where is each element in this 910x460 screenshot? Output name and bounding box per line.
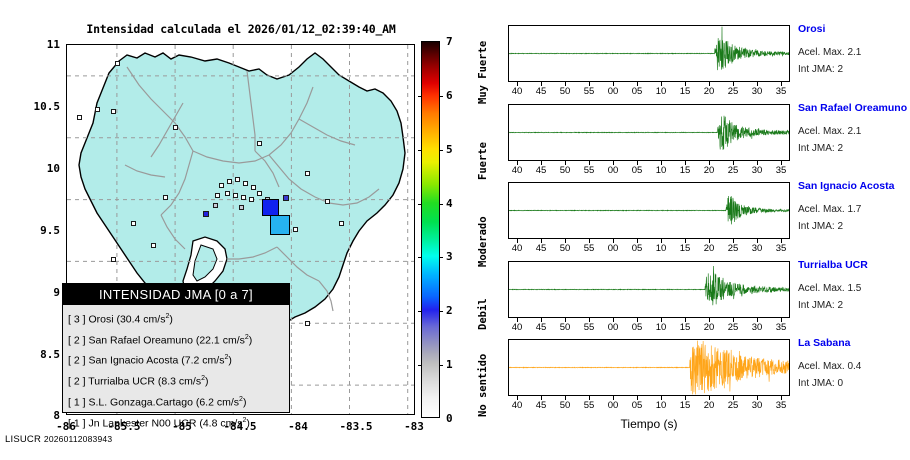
colorbar-tick-7: 7 xyxy=(446,35,453,48)
legend-item: [ 1 ] S.L. Gonzaga.Cartago (6.2 cm/s2) xyxy=(68,391,289,412)
legend-accel: (22.1 cm/s xyxy=(196,334,245,346)
station-marker[interactable] xyxy=(305,171,310,176)
panel-title-san-rafael-oreamuno: San Rafael Oreamuno xyxy=(798,102,907,114)
time-tick-label: 35 xyxy=(767,165,795,176)
station-marker[interactable] xyxy=(173,125,178,130)
station-marker[interactable] xyxy=(131,221,136,226)
panel-int-san-rafael-oreamuno: Int JMA: 2 xyxy=(798,143,843,154)
seismogram-panel-orosi[interactable] xyxy=(508,25,790,82)
colorbar-label-no-sentido: No sentido xyxy=(477,354,489,417)
station-marker[interactable] xyxy=(111,109,116,114)
panel-title-orosi: Orosi xyxy=(798,23,825,35)
station-marker[interactable] xyxy=(95,107,100,112)
station-marker[interactable] xyxy=(111,257,116,262)
station-marker[interactable] xyxy=(339,221,344,226)
map-xlabel-835: -83.5 xyxy=(326,420,386,433)
legend-item: [ 1 ] Jn Lankester N00 UCR (4.8 cm/s2) xyxy=(68,412,289,433)
seismogram-panel-san-rafael-oreamuno[interactable] xyxy=(508,104,790,161)
colorbar-tick-1: 1 xyxy=(446,358,453,371)
station-marker[interactable] xyxy=(213,203,218,208)
map-ylabel-95: 9.5 xyxy=(4,224,60,237)
legend-level: [ 1 ] xyxy=(68,396,86,408)
panel-int-turrialba-ucr: Int JMA: 2 xyxy=(798,300,843,311)
time-tick-label: 35 xyxy=(767,400,795,411)
station-marker-intensity1[interactable] xyxy=(203,211,209,217)
legend-item: [ 2 ] Turrialba UCR (8.3 cm/s2) xyxy=(68,370,289,391)
station-marker-intensity1[interactable] xyxy=(283,195,289,201)
map-ylabel-9: 9 xyxy=(10,286,60,299)
footer-code: 20260112083943 xyxy=(44,434,112,444)
station-marker[interactable] xyxy=(249,197,254,202)
waveform-svg xyxy=(509,262,789,317)
legend-close: ) xyxy=(243,396,247,408)
station-marker[interactable] xyxy=(257,141,262,146)
colorbar-tick-3: 3 xyxy=(446,250,453,263)
station-marker[interactable] xyxy=(325,199,330,204)
waveform-svg xyxy=(509,26,789,81)
station-marker[interactable] xyxy=(163,195,168,200)
time-tick-label: 35 xyxy=(767,243,795,254)
legend-item: [ 2 ] San Rafael Oreamuno (22.1 cm/s2) xyxy=(68,329,289,350)
colorbar-label-fuerte: Fuerte xyxy=(477,142,489,180)
colorbar-tick-4: 4 xyxy=(446,197,453,210)
legend-level: [ 3 ] xyxy=(68,314,86,326)
station-marker[interactable] xyxy=(233,193,238,198)
colorbar-tick-5: 5 xyxy=(446,143,453,156)
legend-item: [ 3 ] Orosi (30.4 cm/s2) xyxy=(68,308,289,329)
colorbar-tick-6: 6 xyxy=(446,89,453,102)
colorbar-tick-2: 2 xyxy=(446,304,453,317)
time-tick-label: 35 xyxy=(767,322,795,333)
waveform-svg xyxy=(509,183,789,238)
station-marker[interactable] xyxy=(151,243,156,248)
station-marker-orosi[interactable] xyxy=(262,199,279,216)
legend-close: ) xyxy=(249,334,253,346)
legend-station: Orosi xyxy=(88,314,113,326)
seismogram-panel-turrialba-ucr[interactable] xyxy=(508,261,790,318)
map-title: Intensidad calculada el 2026/01/12_02:39… xyxy=(66,22,416,36)
panel-title-la-sabana: La Sabana xyxy=(798,337,851,349)
legend-accel: (6.2 cm/s xyxy=(196,396,239,408)
legend-close: ) xyxy=(228,355,232,367)
colorbar-label-moderado: Moderado xyxy=(477,216,489,267)
legend-list: [ 3 ] Orosi (30.4 cm/s2) [ 2 ] San Rafae… xyxy=(63,305,289,432)
legend-close: ) xyxy=(246,417,250,429)
colorbar-tick-0: 0 xyxy=(446,412,453,425)
station-marker[interactable] xyxy=(243,181,248,186)
legend-accel: (7.2 cm/s xyxy=(181,355,224,367)
time-axis-label: Tiempo (s) xyxy=(508,417,790,431)
legend-header: INTENSIDAD JMA [0 a 7] xyxy=(63,284,289,305)
legend-level: [ 2 ] xyxy=(68,355,86,367)
legend-close: ) xyxy=(169,314,173,326)
panel-accel-orosi: Acel. Max. 2.1 xyxy=(798,47,861,58)
panel-accel-la-sabana: Acel. Max. 0.4 xyxy=(798,361,861,372)
intensity-colorbar xyxy=(421,41,440,418)
panel-accel-san-rafael-oreamuno: Acel. Max. 2.1 xyxy=(798,126,861,137)
legend-level: [ 1 ] xyxy=(68,417,86,429)
seismogram-panel-san-ignacio-acosta[interactable] xyxy=(508,182,790,239)
station-marker[interactable] xyxy=(77,115,82,120)
panel-title-san-ignacio-acosta: San Ignacio Acosta xyxy=(798,180,894,192)
waveform-svg xyxy=(509,105,789,160)
legend-station: Jn Lankester N00 UCR xyxy=(88,417,196,429)
station-marker[interactable] xyxy=(115,61,120,66)
station-marker[interactable] xyxy=(305,321,310,326)
legend-station: S.L. Gonzaga.Cartago xyxy=(88,396,192,408)
legend-station: San Rafael Oreamuno xyxy=(88,334,192,346)
colorbar-label-debil: Debil xyxy=(477,298,489,330)
map-ylabel-85: 8.5 xyxy=(4,348,60,361)
station-marker[interactable] xyxy=(241,195,246,200)
station-marker[interactable] xyxy=(293,227,298,232)
station-marker[interactable] xyxy=(227,179,232,184)
panel-int-san-ignacio-acosta: Int JMA: 2 xyxy=(798,221,843,232)
station-marker[interactable] xyxy=(257,191,262,196)
footer-org: LISUCR xyxy=(5,434,41,445)
intensity-legend: INTENSIDAD JMA [0 a 7] [ 3 ] Orosi (30.4… xyxy=(62,283,290,413)
map-ylabel-10: 10 xyxy=(10,162,60,175)
legend-level: [ 2 ] xyxy=(68,376,86,388)
colorbar-label-muy-fuerte: Muy Fuerte xyxy=(477,41,489,104)
station-marker[interactable] xyxy=(251,185,256,190)
panel-accel-san-ignacio-acosta: Acel. Max. 1.7 xyxy=(798,204,861,215)
legend-item: [ 2 ] San Ignacio Acosta (7.2 cm/s2) xyxy=(68,349,289,370)
station-marker[interactable] xyxy=(235,177,240,182)
station-marker[interactable] xyxy=(219,183,224,188)
panel-int-la-sabana: Int JMA: 0 xyxy=(798,378,843,389)
map-ylabel-11: 11 xyxy=(10,38,60,51)
seismogram-panel-la-sabana[interactable] xyxy=(508,339,790,396)
station-marker[interactable] xyxy=(225,191,230,196)
legend-accel: (4.8 cm/s xyxy=(199,417,242,429)
map-ylabel-105: 10.5 xyxy=(4,100,60,113)
station-marker[interactable] xyxy=(239,205,244,210)
panel-int-orosi: Int JMA: 2 xyxy=(798,64,843,75)
panel-title-turrialba-ucr: Turrialba UCR xyxy=(798,259,868,271)
time-tick-label: 35 xyxy=(767,86,795,97)
legend-accel: (30.4 cm/s xyxy=(116,314,165,326)
map-xlabel-83: -83 xyxy=(384,420,444,433)
waveform-svg xyxy=(509,340,789,395)
footer-credit: LISUCR 20260112083943 xyxy=(5,434,112,445)
station-marker[interactable] xyxy=(215,193,220,198)
legend-accel: (8.3 cm/s xyxy=(158,376,201,388)
legend-station: Turrialba UCR xyxy=(88,376,155,388)
legend-station: San Ignacio Acosta xyxy=(88,355,178,367)
panel-accel-turrialba-ucr: Acel. Max. 1.5 xyxy=(798,283,861,294)
legend-level: [ 2 ] xyxy=(68,334,86,346)
legend-close: ) xyxy=(205,376,209,388)
station-marker-san-rafael-oreamuno[interactable] xyxy=(270,215,290,235)
